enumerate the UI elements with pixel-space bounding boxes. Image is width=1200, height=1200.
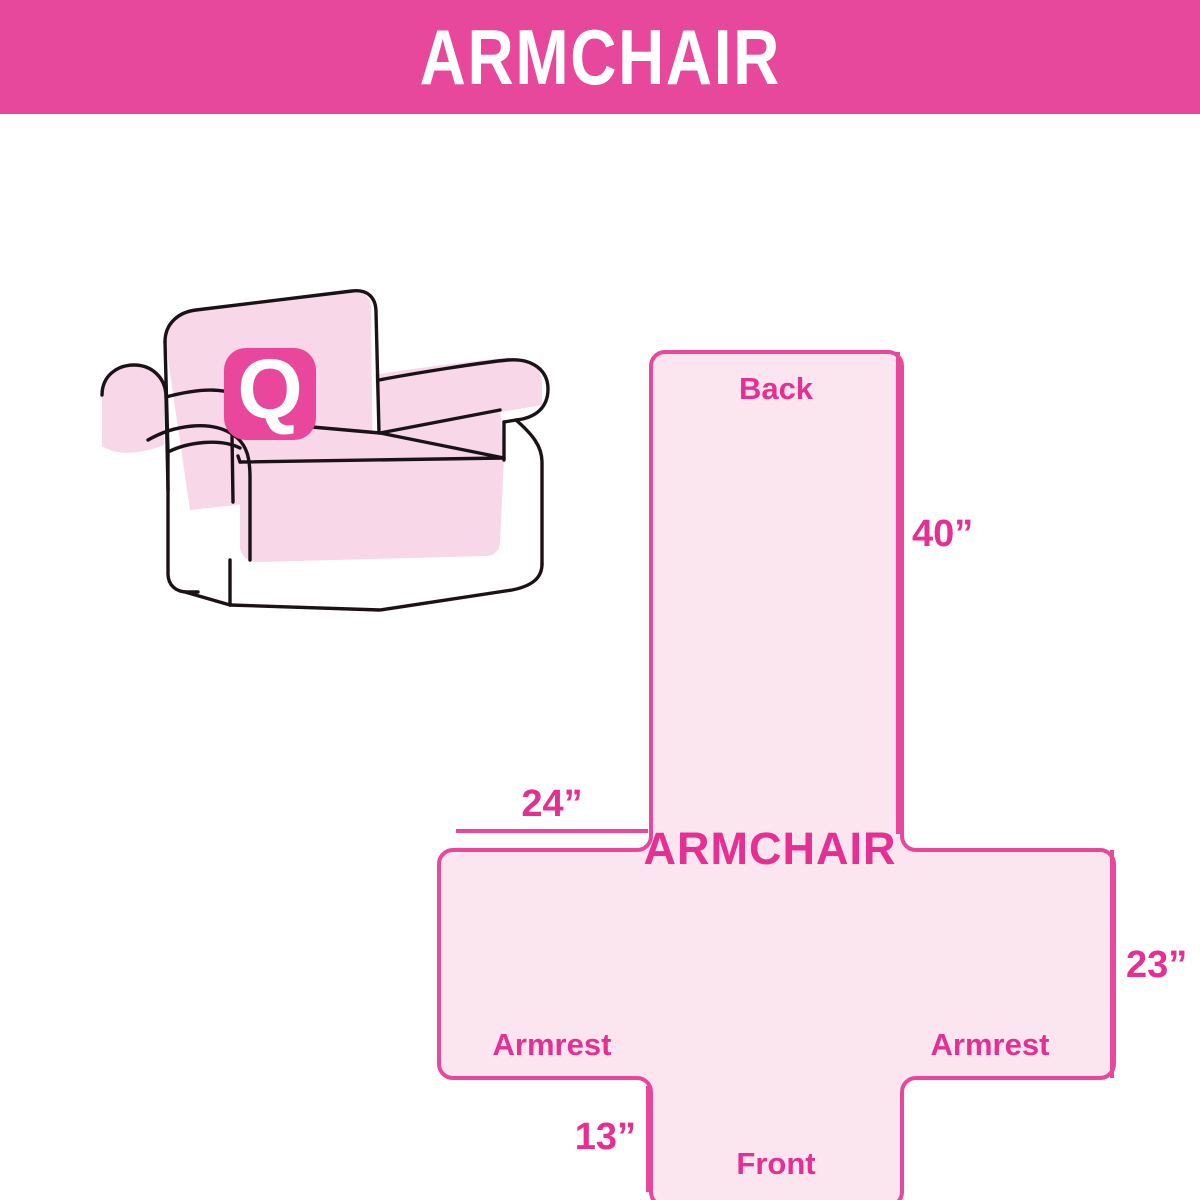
panel-label-back: Back	[739, 371, 814, 406]
cover-pattern-diagram: Back ARMCHAIR Armrest Armrest Front 40” …	[420, 334, 1200, 1164]
panel-label-armrest-right: Armrest	[931, 1027, 1050, 1062]
dimension-value-23: 23”	[1126, 944, 1187, 986]
page-title: ARMCHAIR	[419, 18, 780, 96]
cover-cross-shape	[420, 334, 1200, 1200]
panel-label-front: Front	[736, 1146, 815, 1181]
center-label-armchair: ARMCHAIR	[644, 823, 897, 874]
dimension-front-height: 13”	[575, 1086, 648, 1192]
left-arm-outer-fill	[102, 366, 164, 453]
content-area: Q	[0, 114, 1200, 1200]
dimension-value-24-top: 24”	[521, 783, 582, 825]
dimension-body-depth: 23”	[1112, 850, 1187, 1078]
header-banner: ARMCHAIR	[0, 0, 1200, 114]
dimension-back-width: 24”	[456, 783, 648, 831]
panel-label-armrest-left: Armrest	[493, 1027, 612, 1062]
dimension-value-40: 40”	[912, 513, 973, 555]
logo-letter: Q	[237, 342, 302, 436]
brand-logo-badge: Q	[224, 342, 316, 440]
dimension-back-height: 40”	[898, 352, 973, 834]
base-left-run	[185, 592, 230, 605]
seat-corner	[238, 456, 240, 462]
cover-outline	[439, 352, 1114, 1200]
dimension-value-13: 13”	[575, 1116, 636, 1158]
